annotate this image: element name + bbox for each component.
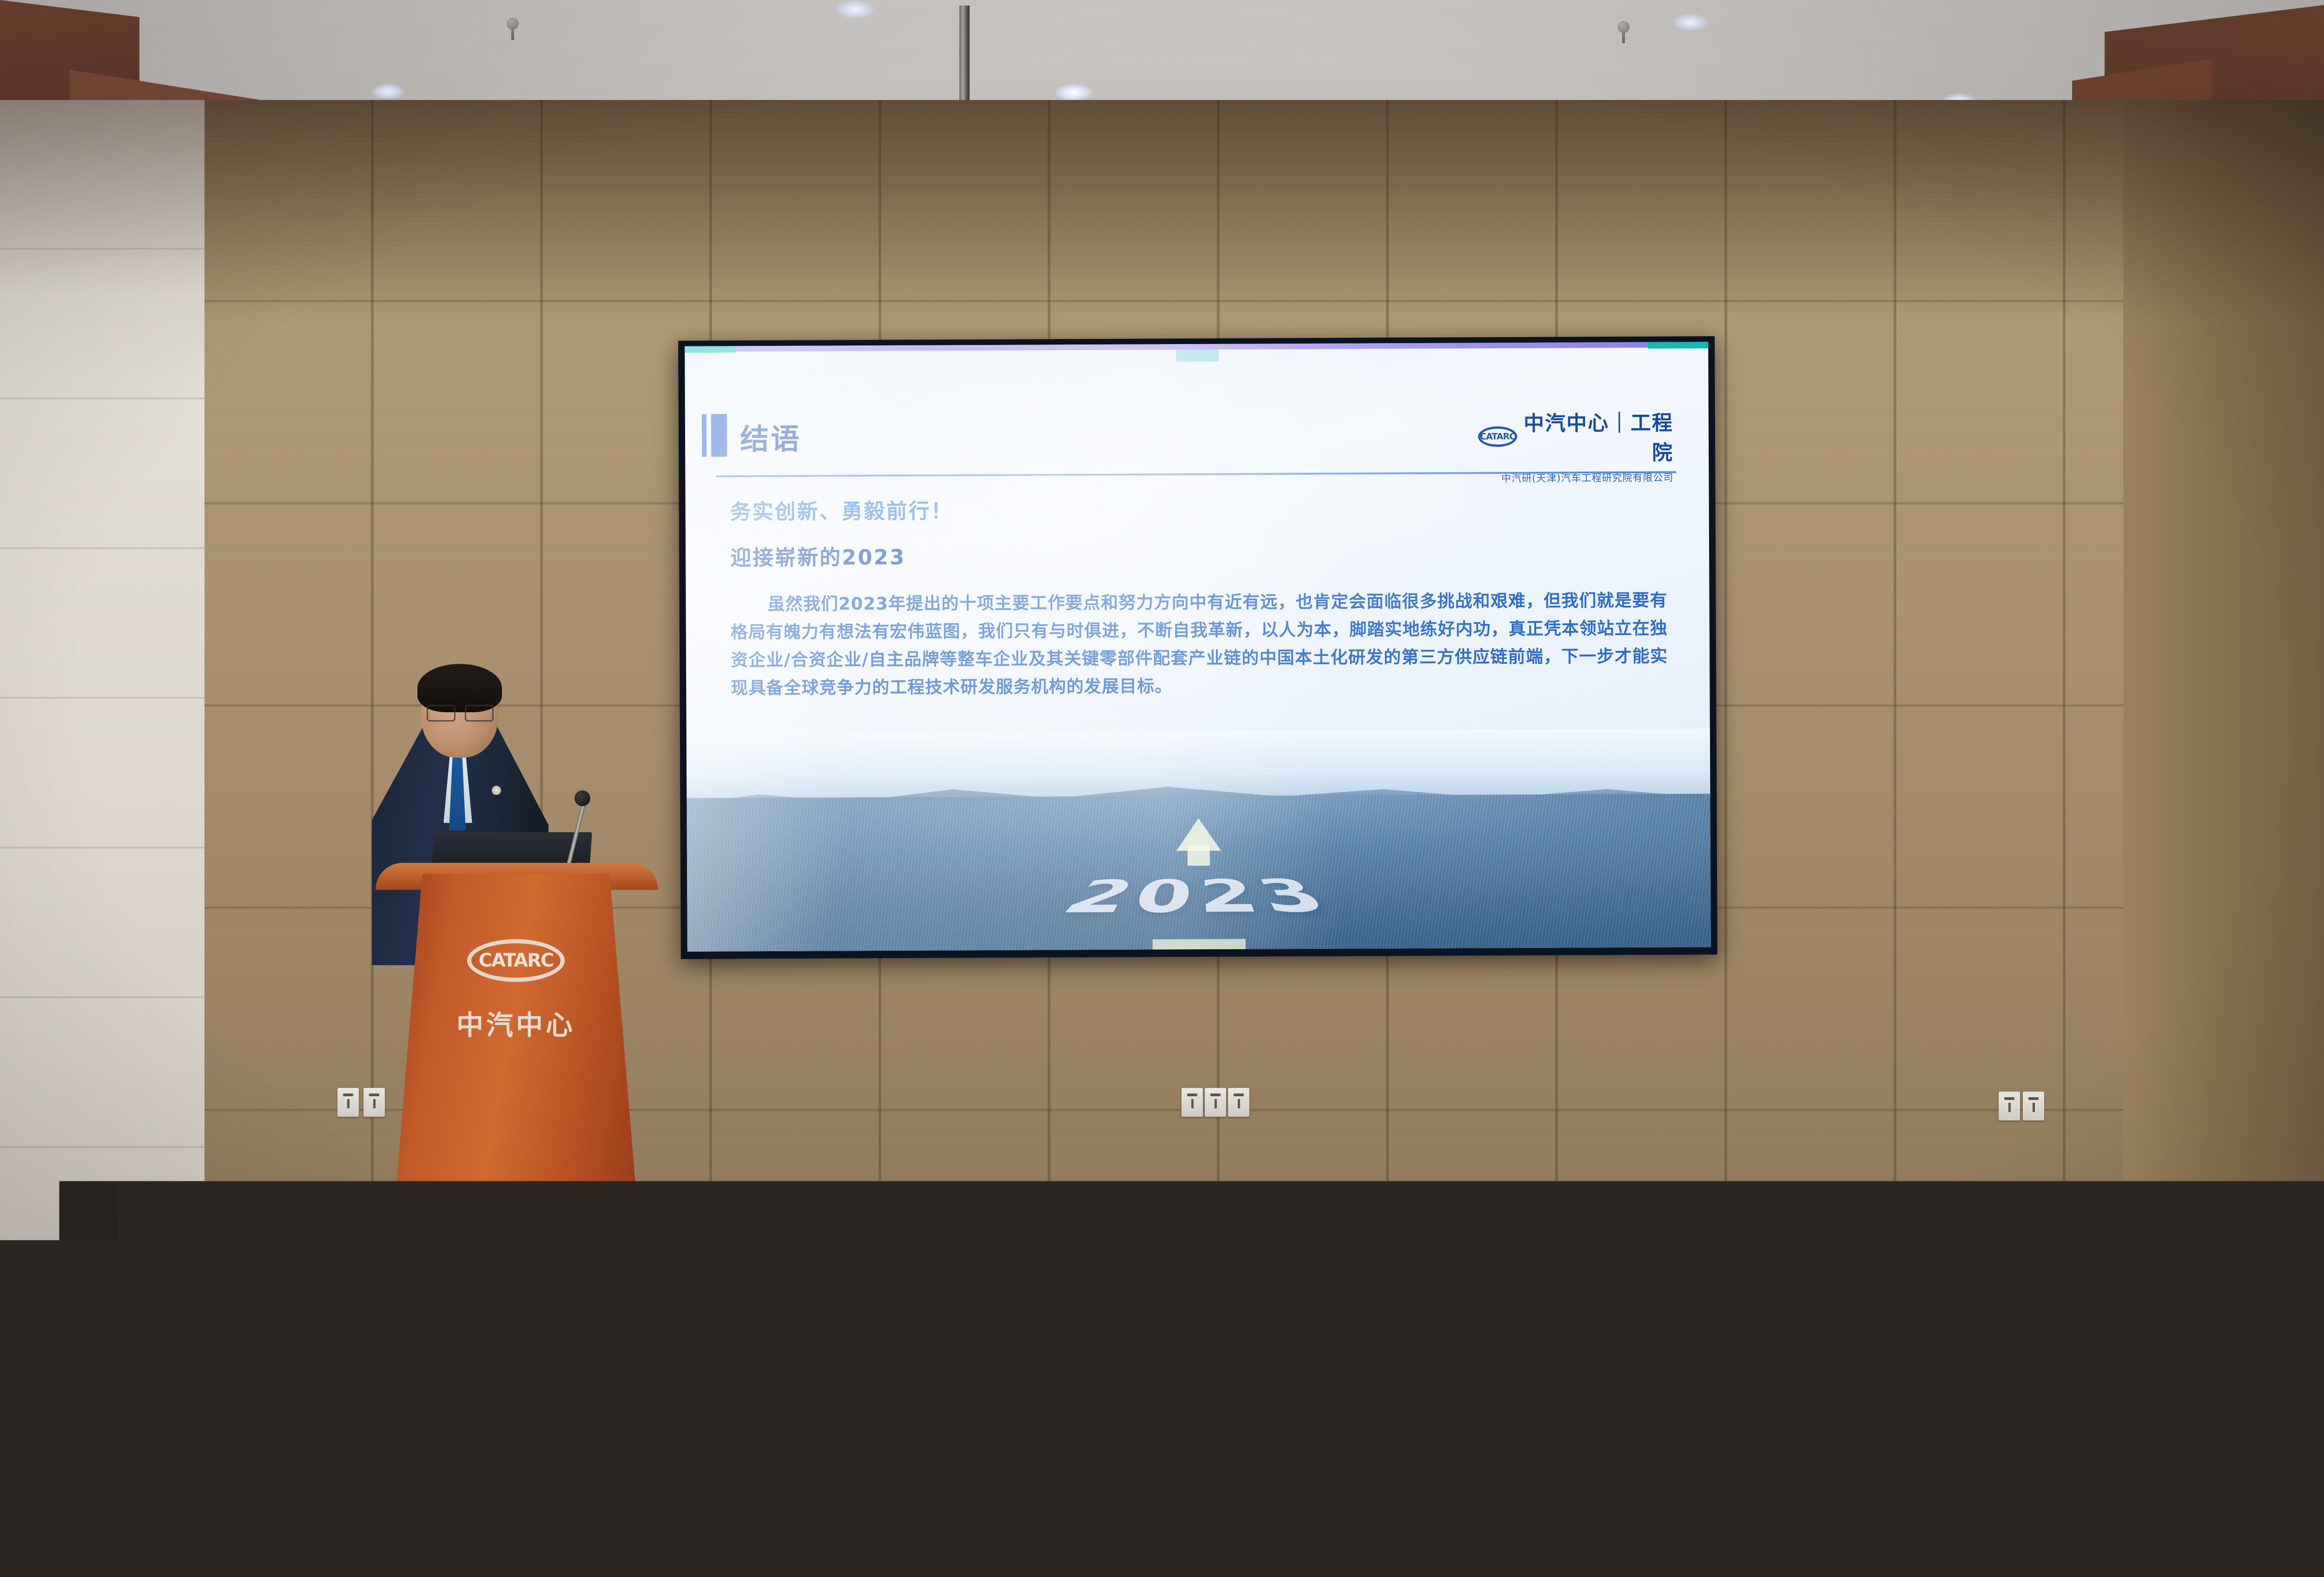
slide-road-photo: 2023 xyxy=(687,729,1711,952)
watermark: CATARC 中汽中心｜工程院 xyxy=(2118,1531,2324,1561)
slide-heading-1: 务实创新、勇毅前行！ xyxy=(730,491,1667,525)
ceiling-downlight xyxy=(1055,84,1092,101)
wall-left-shadow xyxy=(0,100,211,295)
watermark-text: 中汽中心｜工程院 xyxy=(2170,1531,2324,1561)
projection-screen: 结语 CATARC 中汽中心｜工程院 中汽研(天津)汽车工程研究院有限公司 务实… xyxy=(685,342,1711,952)
slide-edge-accent-right xyxy=(1648,342,1708,349)
forward-arrow-icon xyxy=(1176,818,1221,851)
projection-screen-frame: 结语 CATARC 中汽中心｜工程院 中汽研(天津)汽车工程研究院有限公司 务实… xyxy=(678,336,1717,959)
sprinkler-head xyxy=(507,18,519,30)
audience-head xyxy=(1618,1346,1693,1431)
wall-outlet[interactable] xyxy=(1182,1088,1203,1117)
audience-head xyxy=(530,1450,611,1541)
slide-logo-subtitle: 中汽研(天津)汽车工程研究院有限公司 xyxy=(1478,470,1673,485)
wall-top-shading xyxy=(205,100,2324,323)
water-bottle[interactable] xyxy=(1701,1360,1713,1405)
water-bottle[interactable] xyxy=(1855,1362,1867,1407)
speaker-lapel-pin xyxy=(492,786,501,795)
slide-body: 务实创新、勇毅前行！ 迎接崭新的2023 虽然我们2023年提出的十项主要工作要… xyxy=(730,491,1668,702)
audience-seat[interactable] xyxy=(409,1368,548,1484)
ceiling-downlight xyxy=(837,0,874,19)
wall-outlet[interactable] xyxy=(337,1088,359,1117)
sprinkler-head xyxy=(1618,21,1630,33)
slide-edge-accent-left xyxy=(685,346,736,352)
water-bottle[interactable] xyxy=(558,1362,570,1407)
document-sheet[interactable] xyxy=(1866,1354,1936,1411)
slide-heading-2: 迎接崭新的2023 xyxy=(730,537,1667,571)
podium-logo-text: 中汽中心 xyxy=(386,1003,646,1042)
audience-head xyxy=(1255,1344,1329,1426)
face-mask xyxy=(1464,1325,1543,1353)
audience-head xyxy=(669,1334,744,1418)
seat-number: 9 xyxy=(1940,1391,1960,1408)
wall-outlet[interactable] xyxy=(363,1088,385,1117)
audience-head xyxy=(2129,1450,2211,1542)
document-sheet[interactable] xyxy=(945,1349,1021,1408)
podium-logo: CATARC 中汽中心 xyxy=(386,939,646,1042)
water-bottle[interactable] xyxy=(762,1478,774,1522)
slide-logo: CATARC 中汽中心｜工程院 中汽研(天津)汽车工程研究院有限公司 xyxy=(1478,406,1674,485)
audience-head xyxy=(930,1451,1010,1542)
slide-title: 结语 xyxy=(740,416,801,458)
wall-outlet[interactable] xyxy=(1228,1088,1249,1117)
seat-number: 7 xyxy=(1201,1394,1221,1411)
seat-number: 8 xyxy=(1559,1392,1578,1409)
catarc-oval-logo-icon: CATARC xyxy=(2118,1536,2162,1557)
water-bottle[interactable] xyxy=(1432,1363,1444,1408)
road-year-text: 2023 xyxy=(1044,872,1354,928)
catarc-oval-logo-icon: CATARC xyxy=(467,939,565,982)
slide-title-accent-bar xyxy=(711,414,727,457)
road-dash-marking xyxy=(1153,939,1246,950)
wall-outlet[interactable] xyxy=(1205,1088,1226,1117)
slide-logo-name: 中汽中心｜工程院 xyxy=(1524,406,1674,466)
slide-paragraph: 虽然我们2023年提出的十项主要工作要点和努力方向中有近有远，也肯定会面临很多挑… xyxy=(730,587,1668,702)
audience-head xyxy=(883,1360,956,1440)
document-sheet[interactable] xyxy=(1362,1372,1422,1441)
audience-area: 4 7 8 9 xyxy=(0,1162,2324,1577)
slide-header: 结语 CATARC 中汽中心｜工程院 中汽研(天津)汽车工程研究院有限公司 xyxy=(711,403,1677,477)
slide-top-tag xyxy=(1176,350,1219,362)
seat-headrest xyxy=(407,1360,550,1375)
water-bottle[interactable] xyxy=(353,1478,365,1522)
audience-head xyxy=(1971,1344,2046,1428)
desk-folder[interactable] xyxy=(19,1511,74,1553)
microphone-icon xyxy=(574,790,590,806)
desk-folder[interactable] xyxy=(1129,1514,1190,1556)
seat-number: 4 xyxy=(262,1391,282,1408)
glasses-icon xyxy=(426,705,495,719)
catarc-oval-logo-icon: CATARC xyxy=(1478,426,1517,447)
ceiling-downlight xyxy=(372,84,404,99)
wall-outlet[interactable] xyxy=(2023,1092,2044,1120)
audience-head xyxy=(139,1452,219,1542)
ceiling-downlight xyxy=(1673,14,1708,31)
audience-head xyxy=(1729,1449,1811,1541)
audience-head xyxy=(1329,1451,1410,1542)
water-bottle[interactable] xyxy=(1083,1364,1095,1409)
wall-outlet[interactable] xyxy=(1999,1092,2020,1120)
audience-head xyxy=(307,1348,380,1431)
conference-photo-scene: 务实创新 · 勇毅前行 · 开创高质量发展新局面 —中汽中心工程院2022年度工… xyxy=(0,0,2324,1577)
